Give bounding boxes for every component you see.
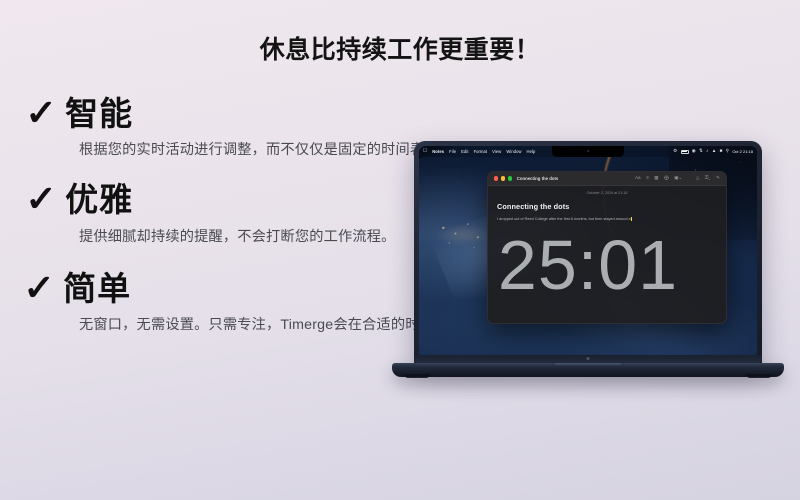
- menu-item-window[interactable]: Window: [506, 149, 521, 154]
- control-center-icon[interactable]: ⚙: [673, 149, 677, 154]
- note-body-span: I dropped out of Reed College after the …: [497, 217, 631, 221]
- menu-item-file[interactable]: File: [449, 149, 456, 154]
- window-traffic-lights[interactable]: [494, 176, 512, 180]
- menubar-clock[interactable]: Oct 2 21:18: [732, 149, 753, 154]
- menu-item-help[interactable]: Help: [527, 149, 536, 154]
- link-icon[interactable]: ⨁: [664, 176, 669, 181]
- laptop-base: [392, 363, 784, 377]
- page-title: 休息比持续工作更重要！: [0, 30, 800, 66]
- laptop-screen:  Notes File Edit Format View Window Hel…: [419, 146, 757, 360]
- zoom-icon[interactable]: [508, 176, 512, 180]
- menu-item-edit[interactable]: Edit: [461, 149, 468, 154]
- check-icon: ✓: [23, 270, 55, 306]
- note-body-text[interactable]: I dropped out of Reed College after the …: [497, 217, 717, 223]
- notes-window-title: Connecting the dots: [517, 176, 559, 181]
- feature-title: 简单: [63, 271, 131, 307]
- menu-item-view[interactable]: View: [492, 149, 501, 154]
- media-icon[interactable]: ▣⌄: [674, 176, 682, 181]
- display-notch: [552, 146, 624, 157]
- note-title: Connecting the dots: [497, 202, 717, 211]
- lock-icon[interactable]: ⚿⌄: [705, 176, 711, 181]
- notes-toolbar[interactable]: Aa ≡ ▦ ⨁ ▣⌄ △ ⚿⌄ ✎: [635, 176, 720, 181]
- compose-icon[interactable]: ✎: [716, 176, 720, 181]
- feature-title: 智能: [65, 96, 133, 132]
- base-foot-left: [404, 374, 430, 378]
- text-caret: [631, 217, 632, 221]
- menubar-app-menus[interactable]:  Notes File Edit Format View Window Hel…: [423, 149, 535, 155]
- check-icon: ✓: [25, 95, 57, 131]
- battery-icon[interactable]: [681, 150, 689, 154]
- feature-heading: ✓ 智能: [26, 96, 526, 132]
- laptop-lid:  Notes File Edit Format View Window Hel…: [414, 141, 762, 367]
- table-icon[interactable]: ▦: [654, 176, 658, 181]
- base-hinge: [555, 363, 621, 366]
- menu-item-format[interactable]: Format: [474, 149, 488, 154]
- close-icon[interactable]: [494, 176, 498, 180]
- check-icon: ✓: [25, 181, 57, 217]
- sound-icon[interactable]: ♪: [706, 149, 708, 154]
- notes-app-window[interactable]: Connecting the dots Aa ≡ ▦ ⨁ ▣⌄ △ ⚿⌄ ✎: [487, 171, 727, 324]
- hinge-dot-icon: [587, 357, 590, 360]
- notes-body[interactable]: October 2, 2024 at 21:18 Connecting the …: [488, 186, 726, 223]
- notes-toolbar-right[interactable]: △ ⚿⌄ ✎: [696, 176, 720, 181]
- display-icon[interactable]: ◉: [692, 149, 696, 154]
- search-icon[interactable]: ⚲: [726, 149, 729, 154]
- apple-logo-icon[interactable]: : [423, 149, 427, 155]
- minimize-icon[interactable]: [501, 176, 505, 180]
- wifi-icon[interactable]: ▲: [712, 149, 717, 154]
- menubar-status-items[interactable]: ⚙ ◉ ⇅ ♪ ▲ ■ ⚲ Oct 2 21:18: [673, 149, 753, 154]
- macbook-mockup:  Notes File Edit Format View Window Hel…: [392, 141, 784, 385]
- checklist-icon[interactable]: ≡: [646, 176, 649, 181]
- notes-titlebar[interactable]: Connecting the dots Aa ≡ ▦ ⨁ ▣⌄ △ ⚿⌄ ✎: [488, 172, 726, 186]
- format-aa-icon[interactable]: Aa: [635, 176, 641, 181]
- feature-title: 优雅: [65, 182, 133, 218]
- note-timestamp: October 2, 2024 at 21:18: [497, 191, 717, 195]
- base-foot-right: [746, 374, 772, 378]
- camera-icon: [587, 150, 589, 152]
- menu-item-notes[interactable]: Notes: [432, 149, 444, 154]
- bluetooth-icon[interactable]: ⇅: [699, 149, 703, 154]
- user-icon[interactable]: ■: [720, 149, 723, 154]
- share-icon[interactable]: △: [696, 176, 700, 181]
